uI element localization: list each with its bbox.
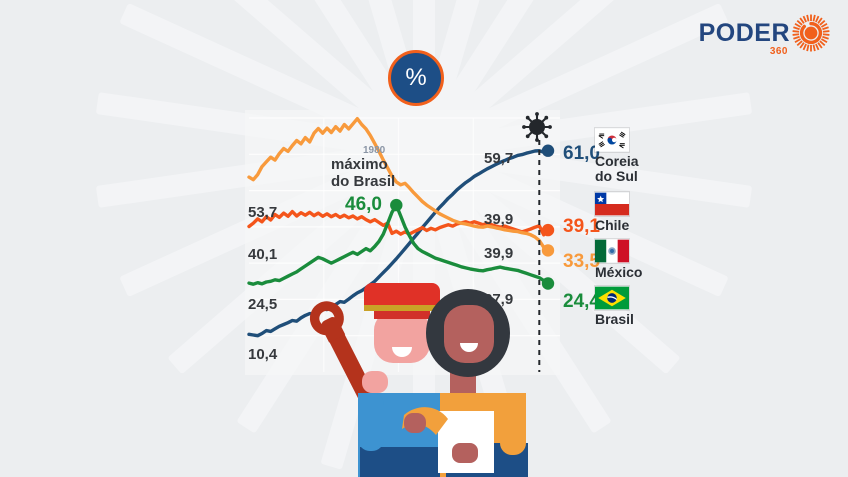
logo-wordmark: PODER 360	[699, 21, 790, 46]
start-label-chile: 40,1	[248, 247, 277, 264]
legend-label-brasil: Brasil	[595, 312, 715, 327]
mid-label-korea: 59,7	[484, 151, 513, 168]
start-label-mexico: 53,7	[248, 205, 277, 222]
infographic-root: 53,7 40,1 24,5 10,4 59,7 39,9 39,9 27,9 …	[0, 0, 848, 477]
coronavirus-icon	[522, 112, 552, 142]
percent-badge: %	[388, 50, 444, 106]
start-label-korea: 10,4	[248, 347, 277, 364]
sunburst-mark	[792, 14, 830, 52]
annotation-year: 1980	[363, 145, 385, 156]
brazil-flag	[595, 286, 629, 310]
percent-symbol: %	[405, 66, 426, 90]
logo-sub: 360	[770, 46, 788, 57]
legend: Coreia do Sul Chile México	[595, 128, 715, 330]
worker-male	[358, 283, 442, 477]
annotation-note-line1: máximo	[331, 157, 388, 174]
mid-label-chile: 39,9	[484, 212, 513, 229]
start-label-brasil: 24,5	[248, 297, 277, 314]
south-korea-flag	[595, 128, 629, 152]
legend-label-chile: Chile	[595, 218, 715, 233]
legend-item-mexico[interactable]: México	[595, 239, 715, 280]
annotation-max-value: 46,0	[345, 194, 382, 215]
legend-item-brasil[interactable]: Brasil	[595, 286, 715, 327]
legend-label-mexico: México	[595, 265, 715, 280]
mid-label-mexico: 39,9	[484, 246, 513, 263]
workers-illustration	[300, 275, 550, 477]
poder360-logo[interactable]: PODER 360	[699, 14, 830, 52]
legend-item-chile[interactable]: Chile	[595, 192, 715, 233]
mexico-flag	[595, 239, 629, 263]
legend-label-korea: Coreia do Sul	[595, 154, 715, 184]
logo-word: PODER	[699, 21, 790, 46]
legend-label-korea-line1: Coreia	[595, 154, 715, 169]
legend-label-korea-line2: do Sul	[595, 169, 715, 184]
annotation-note-line2: do Brasil	[331, 174, 395, 191]
legend-item-korea[interactable]: Coreia do Sul	[595, 128, 715, 184]
chile-flag	[595, 192, 629, 216]
